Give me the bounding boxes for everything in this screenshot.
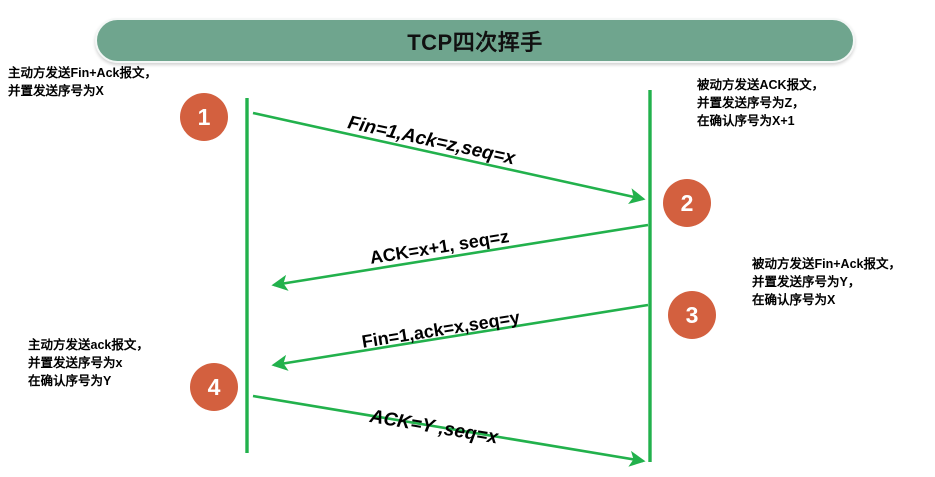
- annotation-line: 在确认序号为X+1: [697, 112, 824, 130]
- annotation-line: 在确认序号为X: [752, 291, 901, 309]
- step-number: 2: [681, 190, 694, 217]
- step-number: 3: [686, 302, 699, 329]
- annotation-line: 在确认序号为Y: [28, 372, 149, 390]
- annotation-line: 并置发送序号为Z，: [697, 94, 824, 112]
- annotation-step-4: 主动方发送ack报文， 并置发送序号为x 在确认序号为Y: [28, 336, 149, 390]
- step-badge-3: 3: [668, 291, 716, 339]
- annotation-step-3: 被动方发送Fin+Ack报文， 并置发送序号为Y， 在确认序号为X: [752, 255, 901, 309]
- annotation-line: 被动方发送Fin+Ack报文，: [752, 255, 901, 273]
- annotation-step-2: 被动方发送ACK报文， 并置发送序号为Z， 在确认序号为X+1: [697, 76, 824, 130]
- annotation-line: 并置发送序号为x: [28, 354, 149, 372]
- annotation-line: 并置发送序号为Y，: [752, 273, 901, 291]
- annotation-line: 主动方发送Fin+Ack报文，: [8, 64, 157, 82]
- annotation-step-1: 主动方发送Fin+Ack报文， 并置发送序号为X: [8, 64, 157, 100]
- step-badge-4: 4: [190, 363, 238, 411]
- step-badge-1: 1: [180, 93, 228, 141]
- step-badge-2: 2: [663, 179, 711, 227]
- step-number: 1: [198, 104, 211, 131]
- annotation-line: 被动方发送ACK报文，: [697, 76, 824, 94]
- annotation-line: 主动方发送ack报文，: [28, 336, 149, 354]
- diagram-canvas: TCP四次挥手 1 2 3 4: [0, 0, 935, 477]
- annotation-line: 并置发送序号为X: [8, 82, 157, 100]
- step-number: 4: [208, 374, 221, 401]
